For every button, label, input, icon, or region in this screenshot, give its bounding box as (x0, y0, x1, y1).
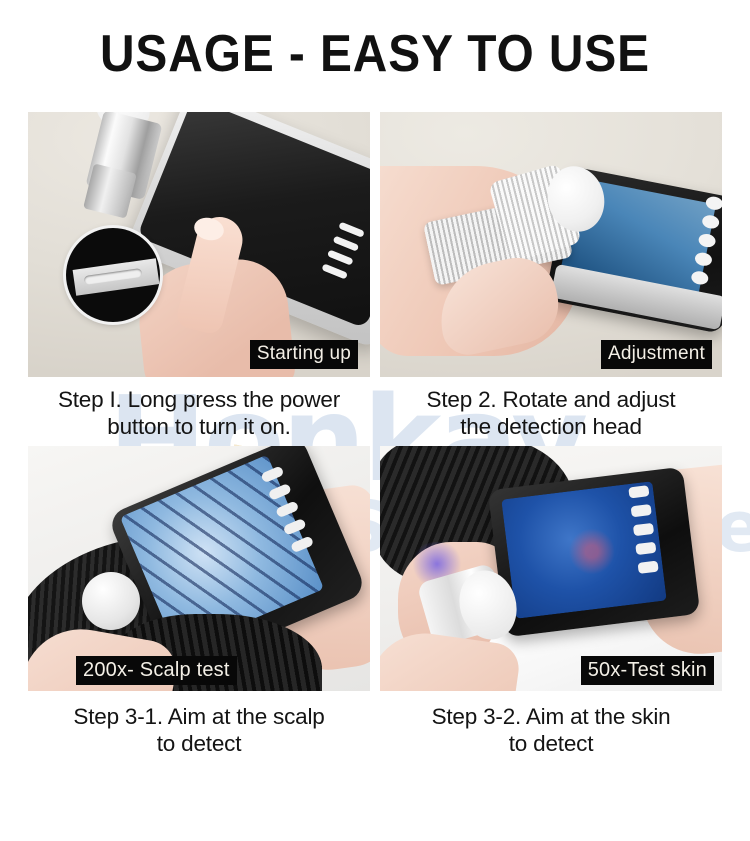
step-caption-2-line2: the detection head (382, 413, 720, 440)
step-caption-2-line1: Step 2. Rotate and adjust (382, 386, 720, 413)
step-caption-3: Step 3-1. Aim at the scalp to detect (28, 691, 370, 763)
step-caption-2: Step 2. Rotate and adjust the detection … (380, 377, 722, 446)
step-photo-3: 200x- Scalp test (28, 446, 370, 691)
page-title: USAGE - EASY TO USE (30, 24, 720, 84)
step-caption-4: Step 3-2. Aim at the skin to detect (380, 691, 722, 763)
photo-label-chip-3: 200x- Scalp test (76, 656, 237, 685)
power-button-callout-icon (66, 228, 160, 322)
step-card-2: Adjustment Step 2. Rotate and adjust the… (380, 112, 722, 446)
steps-row-1: Starting up Step I. Long press the power… (28, 112, 722, 446)
step-card-1: Starting up Step I. Long press the power… (28, 112, 370, 446)
lens-cap-shape (82, 572, 140, 630)
steps-grid: Starting up Step I. Long press the power… (28, 112, 722, 763)
step-caption-3-line2: to detect (30, 730, 368, 757)
step-photo-4: 50x-Test skin (380, 446, 722, 691)
step-caption-1-line1: Step I. Long press the power (30, 386, 368, 413)
steps-row-2: 200x- Scalp test Step 3-1. Aim at the sc… (28, 446, 722, 763)
step-caption-4-line1: Step 3-2. Aim at the skin (382, 703, 720, 730)
step-card-4: 50x-Test skin Step 3-2. Aim at the skin … (380, 446, 722, 763)
step-caption-1-line2: button to turn it on. (30, 413, 368, 440)
infographic-page: USAGE - EASY TO USE Honkay Hair Scalp De… (0, 0, 750, 841)
step-caption-1: Step I. Long press the power button to t… (28, 377, 370, 446)
photo-label-chip-4: 50x-Test skin (581, 656, 714, 685)
photo-label-chip-1: Starting up (250, 340, 358, 369)
step-caption-3-line1: Step 3-1. Aim at the scalp (30, 703, 368, 730)
step-photo-1: Starting up (28, 112, 370, 377)
step-photo-2: Adjustment (380, 112, 722, 377)
photo-label-chip-2: Adjustment (601, 340, 712, 369)
step-caption-4-line2: to detect (382, 730, 720, 757)
step-card-3: 200x- Scalp test Step 3-1. Aim at the sc… (28, 446, 370, 763)
